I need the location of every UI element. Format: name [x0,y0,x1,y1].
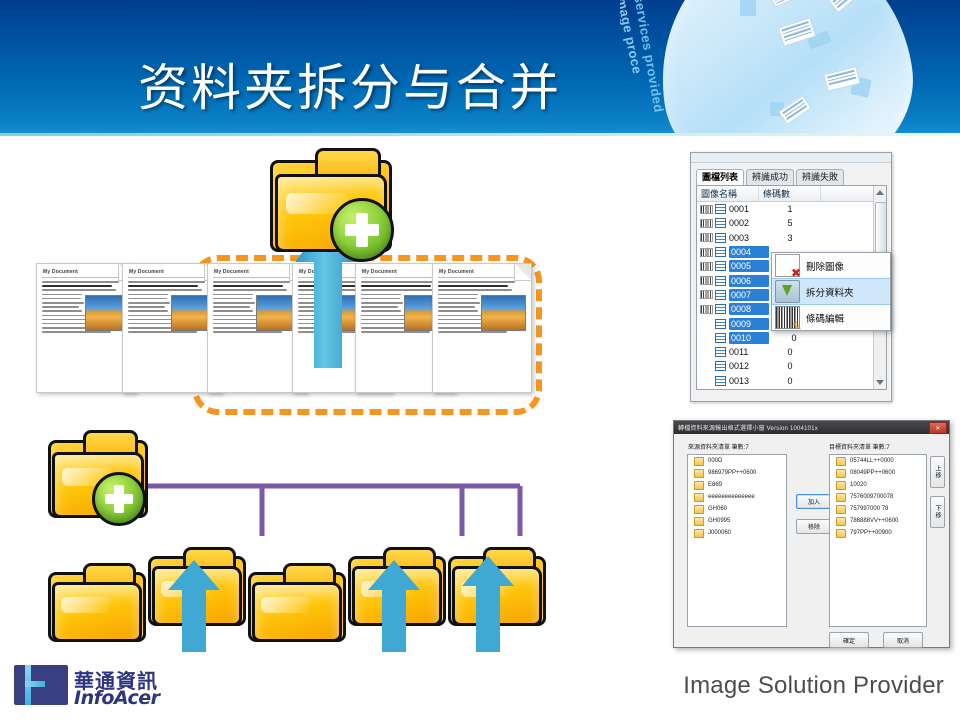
cell-barcode-count: 0 [765,376,815,386]
list-item-label: eeeeeeeeeeeeee [708,494,755,500]
cell-image-name: 0005 [729,260,769,272]
cell-image-name: 0009 [729,318,769,330]
page-icon [715,319,726,329]
add-button[interactable]: 加入 [796,494,832,509]
page-icon [715,261,726,271]
document-rule [128,277,216,278]
document-rule [213,277,301,278]
document-body [37,281,135,333]
list-item[interactable]: 10020 [830,479,926,491]
cell-barcode-count: 0 [769,333,819,343]
target-list-label: 目標資料夾清單 筆數:7 [829,442,890,451]
column-header-barcode-count[interactable]: 條碼數 [759,186,821,201]
cell-image-name: 0001 [729,204,765,214]
arrow-up-icon [368,560,420,652]
barcode-icon [700,305,713,314]
list-item-label: 757997000 78 [850,506,888,512]
page-icon [715,276,726,286]
cell-image-name: 0012 [729,361,765,371]
slide-header: image proce services provided informatio… [0,0,960,136]
table-row[interactable]: 0011 0 [697,345,886,359]
folder-flap [252,582,343,642]
delete-image-icon [775,254,800,277]
cell-barcode-count: 0 [765,347,815,357]
ok-button[interactable]: 確定 [829,632,869,648]
folder-icon [694,505,704,514]
barcode-icon [700,276,713,285]
cell-barcode-count: 5 [765,218,815,228]
banner-chip [740,0,756,16]
list-item-label: 786888VV++0600 [850,518,898,524]
cell-image-name: 0011 [729,347,765,357]
list-item[interactable]: 986979PP++0600 [688,467,786,479]
folder-icon [836,517,846,526]
merge-arrow-left-icon [110,478,530,548]
list-item[interactable]: 786888VV++0600 [830,515,926,527]
folder-icon [694,481,704,490]
folder-icon [694,493,704,502]
cell-image-name: 0007 [729,289,769,301]
page-corner-fold [514,264,531,281]
page-icon [715,204,726,214]
list-item[interactable]: 05744LL++0000 [830,455,926,467]
folder-icon [694,457,704,466]
list-item-label: 986979PP++0600 [708,470,756,476]
tab-recognize-fail[interactable]: 辨識失敗 [796,169,844,185]
column-header-image-name[interactable]: 圖像名稱 [697,186,759,201]
document-page: My Document [36,263,136,393]
table-row[interactable]: 0002 5 [697,216,886,230]
cell-barcode-count: 1 [765,204,815,214]
header-underline [0,133,960,136]
page-icon [715,361,726,371]
list-item-label: E869 [708,482,722,488]
context-menu-label: 條碼編輯 [806,311,844,325]
arrow-up-icon [462,556,514,652]
company-logo: 華通資訊 InfoAcer [14,663,194,709]
cell-image-name: 0002 [729,218,765,228]
panel-tabstrip: 圖檔列表 辨識成功 辨識失敗 [691,163,891,185]
arrow-up-icon [168,560,220,652]
list-item[interactable]: E869 [688,479,786,491]
context-menu-label: 刪除圖像 [806,259,844,273]
folder-flap [52,582,143,642]
barcode-icon [700,205,713,214]
cell-barcode-count: 3 [765,233,815,243]
close-icon[interactable]: ✕ [929,422,947,434]
barcode-icon [700,290,713,299]
list-item-label: GH060 [708,506,727,512]
list-item-label: 10020 [850,482,867,488]
folder-icon [836,457,846,466]
document-rule [438,277,526,278]
document-page: My Document [432,263,532,393]
cell-image-name: 0008 [729,303,769,315]
dialog-titlebar[interactable]: 轉檔資料來源輸出格式選擇小窗 Version 1004101x ✕ [674,421,949,434]
tab-image-list[interactable]: 圖檔列表 [696,169,744,185]
barcode-icon [700,262,713,271]
split-folder-dialog: 轉檔資料來源輸出格式選擇小窗 Version 1004101x ✕ 來源資料夾清… [673,420,950,648]
tab-recognize-success[interactable]: 辨識成功 [746,169,794,185]
list-item[interactable]: 000D [688,455,786,467]
move-up-button[interactable]: 上移 [930,456,945,488]
document-title: My Document [214,269,300,275]
page-icon [715,247,726,257]
context-menu-item-split-folder[interactable]: 拆分資料夾 [772,278,890,305]
document-title: My Document [439,269,525,275]
table-row[interactable]: 0001 1 [697,202,886,216]
barcode-icon [700,219,713,228]
context-menu[interactable]: 刪除圖像 拆分資料夾 條碼編輯 [771,252,891,331]
folder-icon [836,469,846,478]
barcode-icon [700,233,713,242]
list-item-label: 7576009700078 [850,494,893,500]
scroll-up-arrow-icon[interactable] [876,190,884,195]
remove-button[interactable]: 移除 [796,519,832,534]
cell-image-name: 0003 [729,233,765,243]
list-item[interactable]: 7576009700078 [830,491,926,503]
list-item[interactable]: 797PP++00900 [830,527,926,539]
document-title: My Document [129,269,215,275]
cell-image-name: 0013 [729,376,765,386]
list-item[interactable]: eeeeeeeeeeeeee [688,491,786,503]
move-down-button[interactable]: 下移 [930,496,945,528]
cancel-button[interactable]: 取消 [883,632,923,648]
list-item-label: 797PP++00900 [850,530,892,536]
document-thumbnail [481,295,526,331]
barcode-edit-icon [775,306,800,329]
list-item-label: 08049PP++0600 [850,470,895,476]
folder-icon [836,481,846,490]
plus-badge-icon [330,198,394,262]
source-folder [48,572,140,636]
source-list[interactable]: 000D 986979PP++0600 E869 eeeeeeeeeeeeee … [687,454,787,627]
list-item[interactable]: GH0995 [688,515,786,527]
list-item-label: 000D [708,458,722,464]
dialog-title-text: 轉檔資料來源輸出格式選擇小窗 Version 1004101x [678,423,818,432]
split-folder-icon [775,280,800,303]
target-list[interactable]: 05744LL++0000 08049PP++0600 10020 757600… [829,454,927,627]
folder-icon [836,505,846,514]
table-row[interactable]: 0012 0 [697,359,886,373]
cell-image-name: 0004 [729,246,769,258]
folder-icon [836,529,846,538]
context-menu-label: 拆分資料夾 [806,285,854,299]
plus-badge-icon [92,472,146,526]
cell-image-name: 0010 [729,332,769,344]
panel-top-strip [691,153,891,163]
list-item[interactable]: 757997000 78 [830,503,926,515]
folder-icon [694,517,704,526]
cell-barcode-count: 0 [765,361,815,371]
scrollbar-thumb[interactable] [875,202,887,256]
page-icon [715,304,726,314]
page-icon [715,218,726,228]
barcode-icon [700,248,713,257]
page-icon [715,376,726,386]
context-menu-item-delete-image[interactable]: 刪除圖像 [772,253,890,278]
list-item[interactable]: 08049PP++0600 [830,467,926,479]
document-body [433,281,531,333]
document-rule [42,277,130,278]
list-header: 圖像名稱 條碼數 [697,186,886,202]
list-item-label: J000060 [708,530,731,536]
cell-image-name: 0006 [729,275,769,287]
table-row[interactable]: 0013 0 [697,374,886,388]
source-list-label: 來源資料夾清單 筆數:7 [688,442,749,451]
logo-mark-icon [14,665,68,705]
scroll-down-arrow-icon[interactable] [876,380,884,385]
list-item-label: GH0995 [708,518,730,524]
context-menu-item-barcode-edit[interactable]: 條碼編輯 [772,305,890,330]
page-icon [715,290,726,300]
folder-icon [836,493,846,502]
dialog-body: 來源資料夾清單 筆數:7 目標資料夾清單 筆數:7 000D 986979PP+… [674,434,949,647]
list-item[interactable]: GH060 [688,503,786,515]
footer-tagline: Image Solution Provider [683,672,944,700]
page-icon [715,347,726,357]
list-item-label: 05744LL++0000 [850,458,894,464]
list-item[interactable]: J000060 [688,527,786,539]
source-folder [248,572,340,636]
folder-icon [694,469,704,478]
document-title: My Document [43,269,129,275]
table-row[interactable]: 0003 3 [697,231,886,245]
folder-icon [694,529,704,538]
logo-english-name: InfoAcer [74,687,160,709]
page-icon [715,233,726,243]
page-icon [715,333,726,343]
page-title: 资料夹拆分与合并 [0,48,700,120]
